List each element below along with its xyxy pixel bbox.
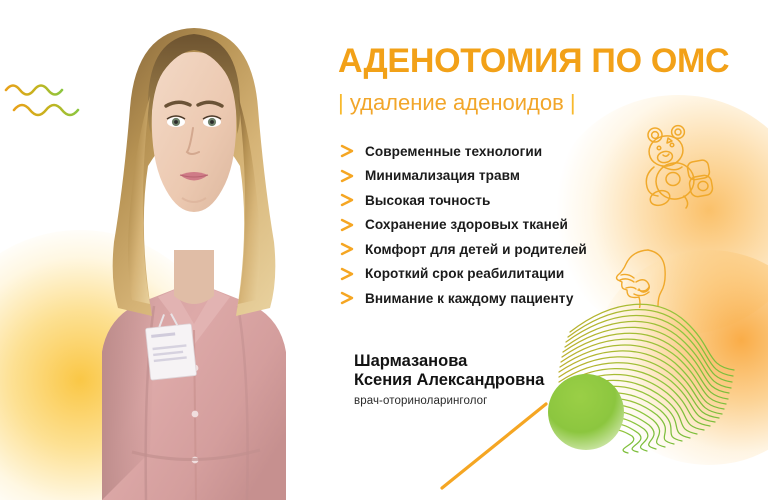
feature-label: Короткий срок реабилитации [365, 266, 564, 281]
chevron-right-icon [340, 169, 357, 183]
subtitle: | удаление аденоидов | [338, 90, 576, 116]
feature-label: Внимание к каждому пациенту [365, 291, 573, 306]
feature-label: Высокая точность [365, 193, 490, 208]
doctor-given-name: Ксения Александровна [354, 371, 544, 390]
list-item: Высокая точность [340, 188, 587, 213]
list-item: Минимализация травм [340, 164, 587, 189]
feature-label: Современные технологии [365, 144, 542, 159]
subtitle-bar-right: | [570, 90, 576, 115]
chevron-right-icon [340, 242, 357, 256]
list-item: Сохранение здоровых тканей [340, 213, 587, 238]
doctor-role: врач-оториноларинголог [354, 395, 544, 407]
list-item: Короткий срок реабилитации [340, 262, 587, 287]
doctor-surname: Шармазанова [354, 352, 544, 371]
promo-banner: АДЕНОТОМИЯ ПО ОМС | удаление аденоидов |… [0, 0, 768, 500]
feature-label: Комфорт для детей и родителей [365, 242, 587, 257]
list-item: Внимание к каждому пациенту [340, 286, 587, 311]
chevron-right-icon [340, 267, 357, 281]
chevron-right-icon [340, 218, 357, 232]
chevron-right-icon [340, 193, 357, 207]
feature-label: Сохранение здоровых тканей [365, 217, 568, 232]
content-column: АДЕНОТОМИЯ ПО ОМС | удаление аденоидов |… [338, 0, 748, 500]
list-item: Комфорт для детей и родителей [340, 237, 587, 262]
subtitle-text: удаление аденоидов [344, 90, 570, 115]
page-title: АДЕНОТОМИЯ ПО ОМС [338, 44, 729, 78]
doctor-portrait-photo [62, 0, 322, 500]
feature-label: Минимализация травм [365, 168, 520, 183]
chevron-right-icon [340, 291, 357, 305]
list-item: Современные технологии [340, 139, 587, 164]
doctor-credit: Шармазанова Ксения Александровна врач-от… [354, 352, 544, 407]
feature-list: Современные технологии Минимализация тра… [340, 139, 587, 311]
chevron-right-icon [340, 144, 357, 158]
